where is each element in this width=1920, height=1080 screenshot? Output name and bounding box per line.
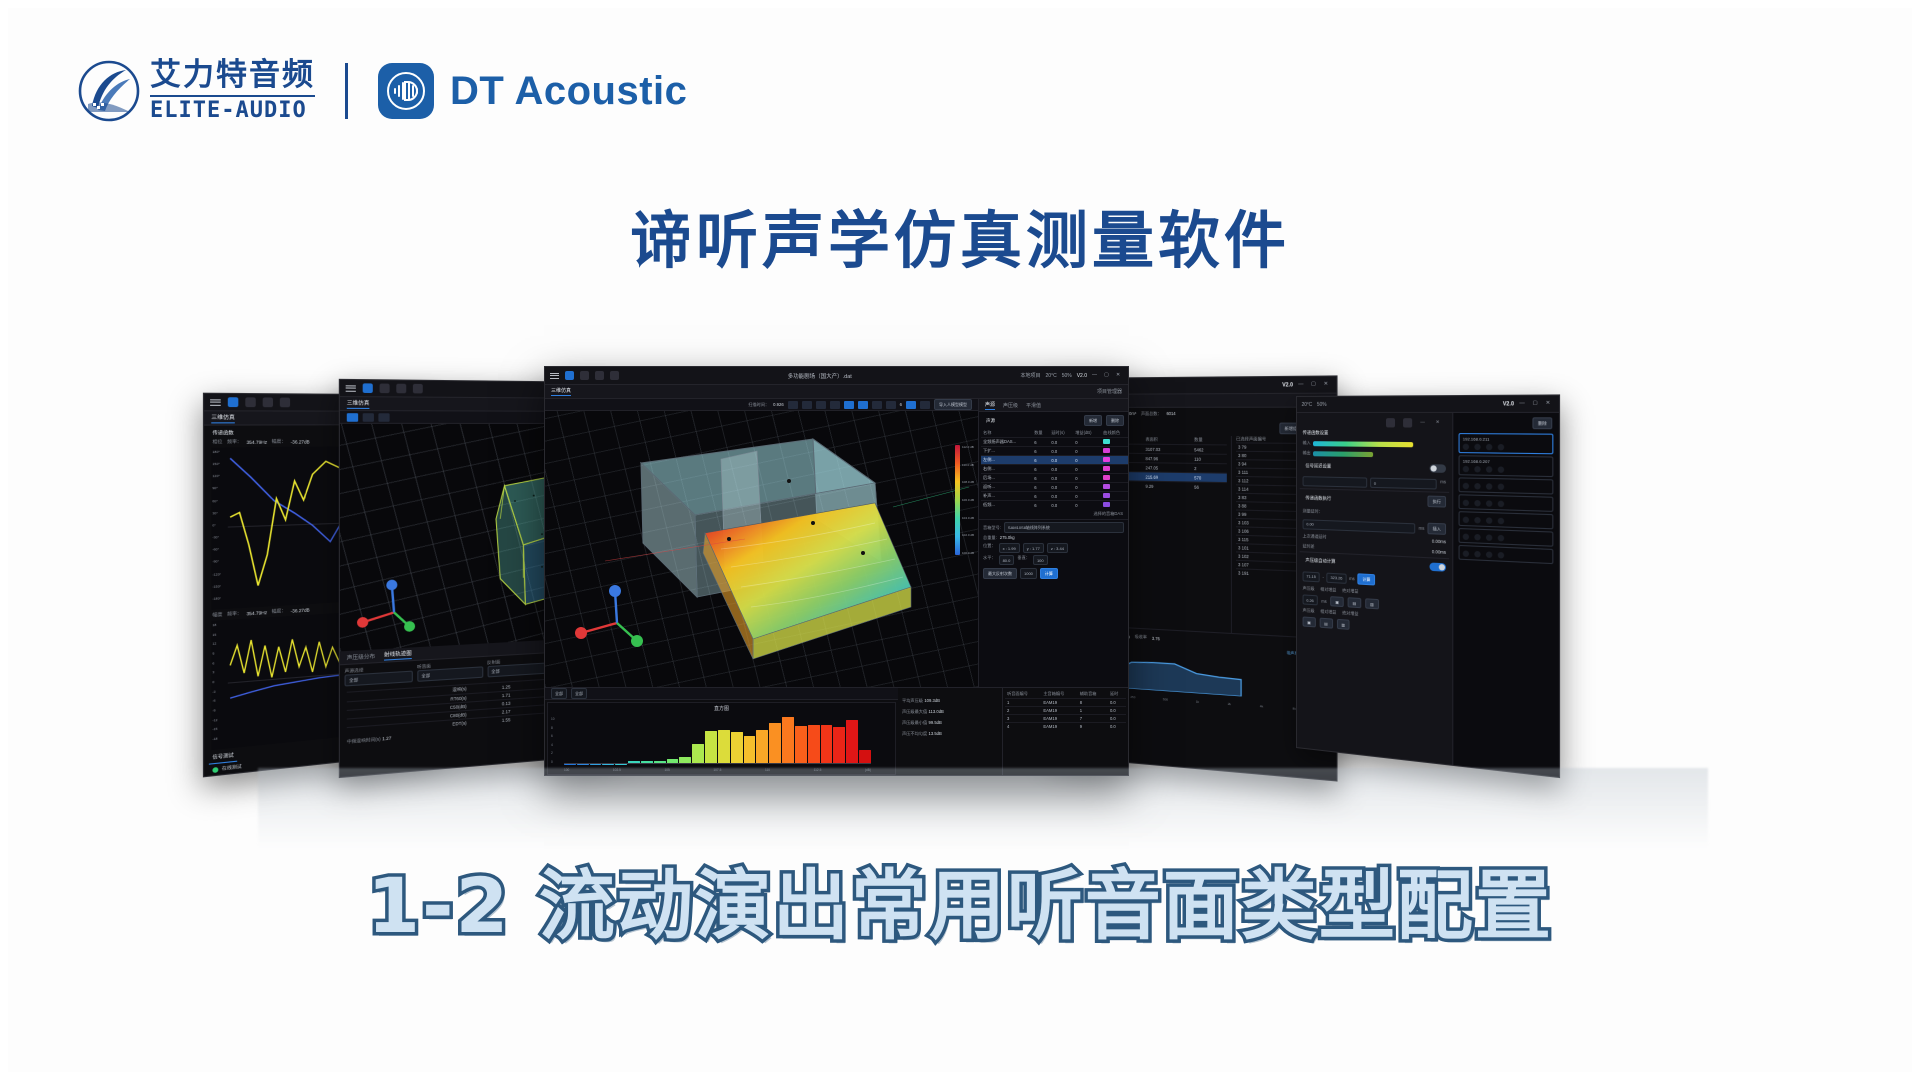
auto-spl-toggle[interactable] [1430,562,1447,571]
color-swatch[interactable] [1103,457,1110,462]
pin-icon[interactable] [1403,418,1412,427]
sim-icon[interactable] [380,384,390,394]
vertical-field[interactable]: 100 [1033,555,1048,565]
surface-count-value: 6014 [1166,411,1175,417]
minimize-icon[interactable]: — [1519,400,1527,408]
stat-label: 平均声压级 [902,698,923,703]
table-row[interactable]: 低频...6 0.00 [981,501,1129,510]
w1-plot1-amp-label: 幅度： [272,438,286,445]
table-row[interactable]: 返听...6 0.00 [981,483,1129,492]
color-swatch[interactable] [1103,439,1110,444]
tab-spl[interactable]: 声压级 [1003,402,1018,409]
grid2-col-abs: 绝对增益 [1342,610,1358,617]
w3-listening-table[interactable]: 听音面编号 主音箱编号 辅助音箱 延时 1EAM1980.0 2EAM1910.… [1002,688,1128,776]
menu-icon[interactable] [550,373,559,379]
color-swatch[interactable] [1103,484,1110,489]
stat-value: 99.5dB [929,720,942,725]
w5-titlebar[interactable]: 20°C 50% V2.0 — ▢ ✕ [1297,396,1559,413]
device-indicators [1463,444,1549,451]
device-slot[interactable] [1459,528,1554,547]
screenshot-montage: 三维仿真 传递函数 相位 频率： 354.79Hz 幅度： -36.27dB 1… [248,388,1718,788]
display-icon[interactable] [280,398,290,408]
maximize-icon[interactable]: ▢ [1532,400,1540,408]
slide-root: 艾力特音频 ELITE-AUDIO [0,0,1920,1080]
w3-viewport-toolbar[interactable]: 扫描时间： 0.926 6 导入人模型模型 [545,399,978,411]
tab-sources[interactable]: 声源 [985,401,995,410]
pos-y-field[interactable]: y : 1.77 [1023,543,1044,553]
status-temperature: 20°C [1046,373,1057,379]
device-slot[interactable] [1459,477,1554,494]
bottom-filter-1[interactable]: 全部 [551,688,567,699]
project-icon[interactable] [363,383,373,393]
histogram-bar [731,732,743,764]
histogram-bar [718,730,730,764]
device-entry[interactable]: 192.168.0.207 [1459,455,1554,477]
window-file-title: 多功能剧场（国大产）.dat [625,372,1015,380]
elite-audio-wordmark: 艾力特音频 ELITE-AUDIO [150,60,315,122]
grid2-action-2-icon[interactable]: ▤ [1319,618,1332,629]
col-delay: 延时(s) [1049,429,1073,438]
delay-diff-value: 0.00ms [1432,549,1446,556]
dt-acoustic-name: DT Acoustic [450,69,687,114]
histogram-bar [833,727,845,764]
table-row[interactable]: 4EAM1990.0 [1005,723,1126,731]
display-icon[interactable] [413,384,423,394]
brand-divider [345,63,348,119]
color-swatch[interactable] [1103,466,1110,471]
app-version: V2.0 [1503,401,1514,407]
brand-rule [150,95,315,97]
device-ip: 192.168.0.207 [1463,458,1490,464]
bottom-filter-2[interactable]: 全部 [571,688,587,699]
page-title: 谛听声学仿真测量软件 [8,190,1912,280]
filter-surface-select[interactable]: 全部 [417,666,483,682]
grid-unit: ms [1321,598,1326,603]
spl-histogram[interactable]: 直方图 10 8 6 4 2 0 100 10 [547,702,896,775]
close-icon[interactable]: ✕ [1546,400,1554,408]
spl-colorbar: 112.0 dB 110.0 dB 108.0 dB 106.0 dB 104.… [955,445,974,555]
histogram-bar [705,731,717,764]
colorbar-gradient [955,445,960,555]
col-color: 曲线颜色 [1101,429,1129,438]
menu-icon[interactable] [210,399,221,406]
sources-table[interactable]: 名称 数量 延时(s) 增益(dB) 曲线颜色 全频扬声器DAS...6 0.0… [981,429,1129,509]
output-level-meter [1313,451,1446,458]
pos-x-field[interactable]: x : 1.99 [999,543,1020,553]
window-device-settings[interactable]: 20°C 50% V2.0 — ▢ ✕ — ✕ [1296,394,1560,778]
auto-b-field[interactable]: 323.26 [1327,572,1347,583]
minimize-icon[interactable]: — [1092,372,1099,379]
grid2-action-1-icon[interactable]: ▣ [1303,616,1316,627]
tool-grid-icon[interactable] [788,401,798,409]
grid-action-1-icon[interactable]: ▣ [1331,596,1344,607]
tab-3d-sim[interactable]: 三维仿真 [551,387,571,396]
tab-3d-sim[interactable]: 三维仿真 [211,413,235,423]
tool-rotate-icon[interactable] [872,401,882,409]
mid-rt-value: 1.27 [382,735,391,741]
w3-titlebar[interactable]: 多功能剧场（国大产）.dat 本地项目 20°C 50% V2.0 — ▢ ✕ [545,367,1128,385]
table-header-row: 名称 数量 延时(s) 增益(dB) 曲线颜色 [981,429,1129,438]
surface-count-label: 声面总数： [1141,411,1162,417]
auto-a-field[interactable]: 71.15 [1303,571,1320,582]
grid2-action-3-icon[interactable]: ▥ [1337,619,1350,630]
view-mode-3-icon[interactable] [378,413,389,422]
grid-action-3-icon[interactable]: ▥ [1365,598,1379,609]
w1-plot1-amp: -36.27dB [291,439,310,444]
histogram-bar [795,726,807,764]
mute-button[interactable]: 静音 [212,774,233,777]
w5-device-list[interactable]: 删除 192.168.0.211 192.168.0.207 [1453,413,1559,777]
w1-online-test: 在线测试 [222,763,242,772]
axis-gizmo-icon [575,585,643,647]
colorbar-labels: 112.0 dB 110.0 dB 108.0 dB 106.0 dB 104.… [962,445,974,555]
horizontal-label: 水平： [983,555,996,565]
table-row[interactable]: 左侧...6 0.00 [981,456,1129,465]
table-row[interactable]: 2EAM1910.0 [1005,707,1126,715]
venue-3d-model [545,411,975,673]
w5-dialog[interactable]: — ✕ 传递函数设置 输入 输出 [1297,413,1453,765]
w3-stats-panel: 平均声压级 109.3dB 声压级最大值 113.0dB 声压级最小值 99.5… [898,688,1002,776]
measure-unit: ms [1419,526,1425,531]
status-temperature: 20°C [1302,401,1313,407]
col-name: 名称 [981,429,1032,438]
source-section-title: 声源 [983,416,1080,426]
position-label: 位置： [983,543,996,553]
stat-label: 声压不均匀度 [902,731,927,736]
tab-3d-sim[interactable]: 三维仿真 [347,399,370,409]
tool-measure-icon[interactable] [886,401,896,409]
histogram-xticks: 100 102.5 105 107.5 110 112.5 (dB) [564,768,871,772]
histogram-bar [821,725,833,764]
stat-value: 13.5dB [929,731,942,736]
elite-audio-logo: 艾力特音频 ELITE-AUDIO [78,60,315,122]
brand-header: 艾力特音频 ELITE-AUDIO [78,60,687,122]
eq-icon[interactable] [396,384,406,394]
table-row[interactable]: 补声...6 0.00 [981,492,1129,501]
sim-icon[interactable] [245,397,255,407]
stat-value: 109.3dB [924,698,940,703]
w5-dialog-controls[interactable]: — ✕ [1300,416,1449,429]
app-version: V2.0 [1077,373,1087,379]
pos-z-field[interactable]: z : 3.44 [1047,543,1068,553]
histogram-bar [744,736,756,764]
device-ip: 192.168.0.211 [1463,436,1490,442]
w1-plot2-amp: -36.27dB [291,607,310,613]
scan-time-label: 扫描时间： [748,402,769,408]
app-version: V2.0 [1282,382,1293,388]
histogram-bars [564,717,871,764]
sample-points-field[interactable]: 1000 [1020,568,1037,579]
color-swatch[interactable] [1103,493,1110,498]
close-icon[interactable]: ✕ [1324,381,1331,389]
device-slot[interactable] [1459,545,1554,564]
weight-value: 275.0kg [1000,535,1015,541]
w3-bottom-strip: 全部 全部 直方图 10 8 6 4 2 0 [545,687,1128,776]
view-mode-1-icon[interactable] [347,413,358,422]
device-slot[interactable] [1459,511,1554,529]
color-swatch[interactable] [1103,475,1110,480]
grid-action-2-icon[interactable]: ▤ [1348,597,1361,608]
magnitude-plot-yticks: 181512963 0-3-6-9-12-15-18 [212,623,217,742]
status-humidity: 50% [1062,373,1072,379]
listening-surface-table: 听音面编号 主音箱编号 辅助音箱 延时 1EAM1980.0 2EAM1910.… [1005,690,1126,730]
window-main-simulation[interactable]: 多功能剧场（国大产）.dat 本地项目 20°C 50% V2.0 — ▢ ✕ … [544,366,1129,776]
close-icon[interactable]: ✕ [1436,419,1443,426]
tool-wifi-icon[interactable] [802,401,812,409]
w5-window-controls[interactable]: V2.0 — ▢ ✕ [1503,400,1554,408]
color-swatch[interactable] [1103,502,1110,507]
histogram-bar [808,725,820,764]
histogram-bar [692,744,704,764]
w1-plot2-freq: 354.79Hz [246,609,267,616]
grid-value-field[interactable]: 0.26 [1303,594,1318,605]
table-header-row: 听音面编号 主音箱编号 辅助音箱 延时 [1005,690,1126,699]
display-icon[interactable] [610,371,619,380]
tool-layers-icon[interactable] [906,401,916,409]
dt-acoustic-logo: DT Acoustic [378,63,687,119]
stat-label: 声压级最小值 [902,720,927,725]
axis-gizmo-icon [357,579,415,635]
close-icon[interactable]: ✕ [1116,372,1123,379]
histogram-bar [846,720,858,764]
histogram-axis [564,763,871,764]
run-button[interactable]: 执行 [1427,496,1446,508]
menu-icon[interactable] [346,385,356,392]
w4-window-controls[interactable]: V2.0 — ▢ ✕ [1282,381,1331,389]
import-model-button[interactable]: 导入人模型模型 [934,399,972,410]
w1-plot2-label: 幅度 [212,611,222,618]
delay-diff-label: 延时差 [1303,543,1315,550]
prev-delay-label: 上次通道延时 [1303,533,1327,540]
vertical-label: 垂直： [1017,555,1030,565]
w1-plot1-freq: 354.79Hz [246,439,267,445]
histogram-yticks: 10 8 6 4 2 0 [551,717,555,764]
filter-reflect-select[interactable]: 全部 [487,662,551,677]
table-row[interactable]: 下扩...6 0.00 [981,447,1129,456]
table-row[interactable]: 后场...6 0.00 [981,474,1129,483]
input-level-meter [1313,441,1446,447]
w3-status-area: 本地项目 20°C 50% V2.0 — ▢ ✕ [1021,372,1124,379]
tool-clock-icon[interactable] [830,401,840,409]
elite-audio-mark-icon [78,60,140,122]
tool-circle-icon[interactable] [816,401,826,409]
delay-value-field[interactable]: 0 [1370,478,1437,490]
output-level-label: 输出 [1303,450,1311,456]
calculate-button[interactable]: 计算 [1040,568,1058,579]
w3-right-tabs[interactable]: 声源 声压级 平滑值 [979,399,1128,412]
scan-time-value: 0.926 [773,402,783,407]
tool-link-icon[interactable] [920,401,930,409]
stat-value: 113.0dB [929,709,944,714]
online-status-icon [212,766,218,772]
delay-unit-label: ms [1440,479,1446,490]
color-swatch[interactable] [1103,448,1110,453]
device-indicators [1463,466,1549,474]
delete-device-button[interactable]: 删除 [1532,417,1552,429]
elite-audio-cn: 艾力特音频 [150,60,315,91]
table-row[interactable]: 3EAM1970.0 [1005,715,1126,723]
device-slot[interactable] [1459,494,1554,512]
model-select[interactable]: SAM10S8轴线阵列系统 [1004,522,1124,533]
selected-speaker-label: 选择的音箱DAS [979,509,1128,519]
add-source-button[interactable]: 新增 [1084,415,1102,426]
minimize-icon[interactable]: — [1298,381,1305,389]
table-row[interactable]: 全频扬声器DAS...6 0.00 [981,438,1129,447]
max-reflections-label[interactable]: 最大反射次数 [983,568,1017,579]
insert-button[interactable]: 插入 [1427,523,1446,535]
tool-move-icon[interactable] [858,401,868,409]
prev-delay-value: 0.00ms [1432,539,1446,546]
delay-unit-select[interactable] [1303,476,1367,488]
w3-bottom-toolbar[interactable]: 全部 全部 [545,688,898,700]
status-user: 本地项目 [1021,372,1041,379]
device-entry[interactable]: 192.168.0.211 [1459,433,1554,454]
dt-acoustic-mark-icon [378,63,434,119]
w1-plot1-freq-label: 频率： [227,439,242,446]
sim-icon[interactable] [580,371,589,380]
grid-col-rel: 相对增益 [1320,586,1336,593]
delay-toggle[interactable] [1430,464,1447,473]
stat-label: 声压级最大值 [902,709,927,714]
grid-col-spl: 声压级 [1303,585,1315,592]
table-row[interactable]: 1EAM1980.0 [1005,699,1126,707]
grid2-col-spl: 声压级 [1303,607,1315,614]
w5-status: 20°C 50% [1302,401,1497,408]
view-mode-2-icon[interactable] [363,413,374,422]
mid-rt-label: 中频混响时间(s) [347,736,381,744]
eq-icon[interactable] [263,397,273,407]
weight-label: 总重量: [983,535,997,541]
grid-col-abs: 绝对增益 [1342,588,1358,595]
horizontal-field[interactable]: 80.0 [999,555,1015,565]
histogram-bar [859,750,871,764]
subtab-spl-distribution[interactable]: 声压级分布 [347,652,375,661]
project-icon[interactable] [228,397,239,407]
section-title: 1-2 流动演出常用听音面类型配置 [8,844,1912,954]
maximize-icon[interactable]: ▢ [1311,381,1318,389]
histogram-bar [769,723,781,764]
w1-level-value: -80.0 dBFS [238,771,263,778]
table-row[interactable]: 右侧...6 0.00 [981,465,1129,474]
w1-plot2-amp-label: 幅度： [272,608,286,615]
slide-stage: 艾力特音频 ELITE-AUDIO [8,8,1912,1072]
w3-tabstrip[interactable]: 三维仿真 项目管理器 [545,385,1128,399]
phase-plot-yticks: 180°150°120°90°60° 30°0°-30°-60°-90° -12… [212,450,221,601]
auto-calc-button[interactable]: 计算 [1358,573,1376,585]
col-qty: 数量 [1032,429,1049,438]
absorption-ratio-value: 3.76 [1152,635,1160,641]
histogram-bar [782,717,794,764]
project-icon[interactable] [565,371,574,380]
w1-plot2-freq-label: 频率： [227,610,242,617]
tab-smoothing[interactable]: 平滑值 [1026,402,1041,409]
model-label: 音箱型号: [983,525,1001,531]
w3-source-panel[interactable]: 声源 声压级 平滑值 声源 新增 删除 名称 数量 延时(s) [978,399,1128,687]
minimize-icon[interactable]: — [1420,419,1427,426]
elite-audio-en: ELITE-AUDIO [150,100,315,122]
maximize-icon[interactable]: ▢ [1104,372,1111,379]
input-level-label: 输入 [1303,440,1311,446]
histogram-title: 直方图 [548,703,895,714]
histogram-bar [756,730,768,764]
col-gain: 增益(dB) [1073,429,1101,438]
tf-run-title: 传递函数执行 [1303,493,1424,507]
w1-plot1-label: 相位 [212,439,222,446]
status-humidity: 50% [1317,401,1327,407]
delete-source-button[interactable]: 删除 [1106,415,1124,426]
w3-viewport[interactable]: 112.0 dB 110.0 dB 108.0 dB 106.0 dB 104.… [545,411,978,687]
project-manager-button[interactable]: 项目管理器 [1097,388,1122,395]
settings-icon[interactable] [1386,418,1395,427]
absorption-ratio-label: 吸收率 [1135,634,1147,641]
eq-icon[interactable] [595,371,604,380]
viewport-count: 6 [900,402,902,407]
grid2-col-rel: 相对增益 [1320,609,1336,616]
delay-settings-title: 信号延迟设置 [1303,461,1426,473]
subtab-ray-trace[interactable]: 射线轨迹图 [384,649,412,660]
auto-unit: ms [1349,576,1354,581]
tool-select-icon[interactable] [844,401,854,409]
